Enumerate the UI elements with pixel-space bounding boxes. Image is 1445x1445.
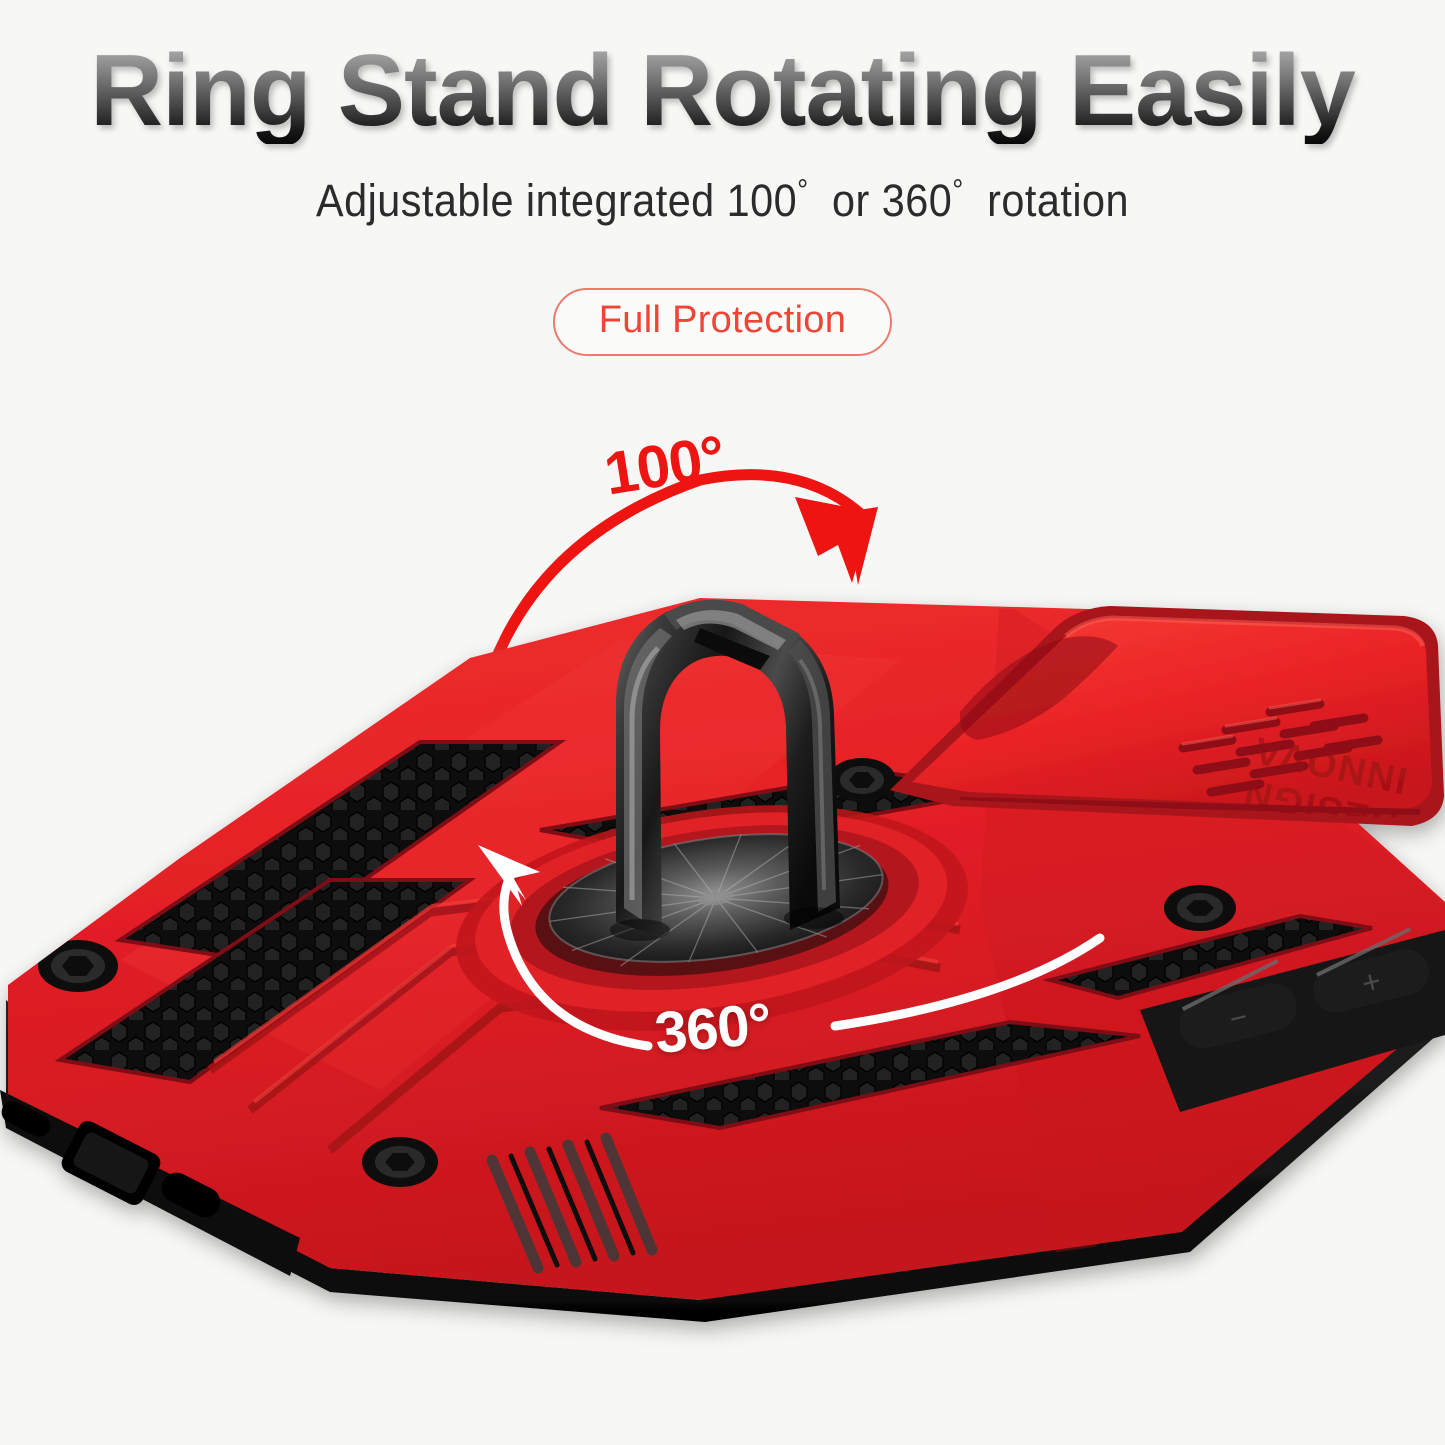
product-image: DESIGN INNOVA − (0, 0, 1445, 1445)
rotate-angle-label: 360° (652, 990, 773, 1067)
product-marketing-banner: Ring Stand Rotating Easily Adjustable in… (0, 0, 1445, 1445)
